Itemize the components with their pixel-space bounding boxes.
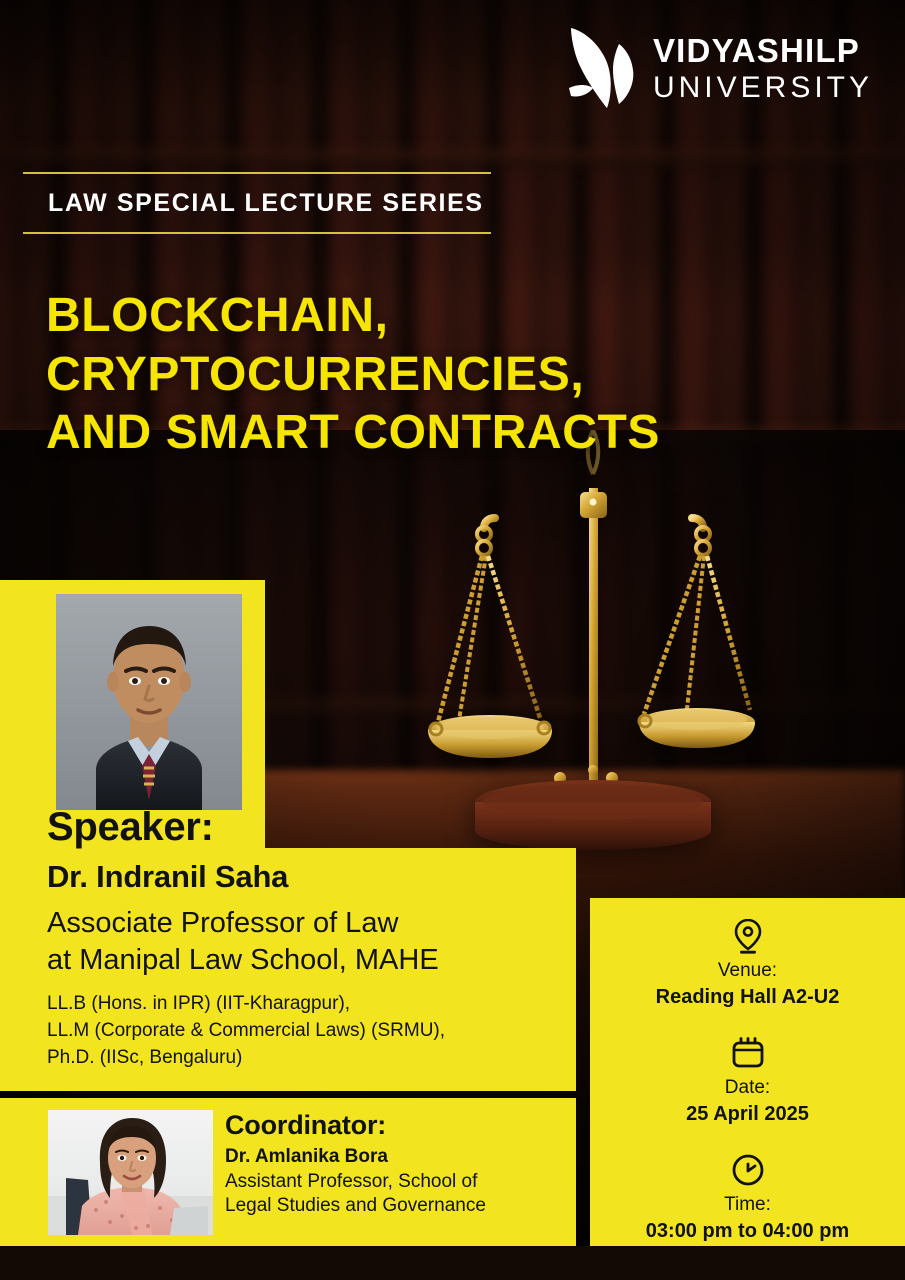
coordinator-role-line2: Legal Studies and Governance [225, 1194, 570, 1218]
time-value: 03:00 pm to 04:00 pm [606, 1219, 889, 1243]
speaker-photo [56, 594, 242, 810]
coordinator-name: Dr. Amlanika Bora [225, 1146, 570, 1168]
clock-icon [606, 1152, 889, 1188]
speaker-role: Associate Professor of Law at Manipal La… [47, 905, 567, 979]
logo-name-line1: VIDYASHILP [653, 34, 873, 67]
kicker-label: LAW SPECIAL LECTURE SERIES [23, 174, 491, 232]
headline-line-1: BLOCKCHAIN, [46, 287, 876, 346]
location-pin-icon [606, 918, 889, 954]
logo-name-line2: UNIVERSITY [653, 73, 873, 103]
date-block: Date: 25 April 2025 [606, 1031, 889, 1132]
coordinator-role: Assistant Professor, School of Legal Stu… [225, 1170, 570, 1218]
kicker-rule-top [23, 172, 491, 174]
scales-of-justice-icon [400, 430, 790, 850]
venue-label: Venue: [606, 960, 889, 982]
headline-line-3: AND SMART CONTRACTS [46, 404, 876, 463]
venue-block: Venue: Reading Hall A2-U2 [606, 914, 889, 1015]
event-info-panel: Venue: Reading Hall A2-U2 Date: 25 April… [590, 898, 905, 1246]
coordinator-photo [48, 1110, 213, 1235]
time-label: Time: [606, 1194, 889, 1216]
calendar-icon [606, 1035, 889, 1071]
page-title: BLOCKCHAIN, CRYPTOCURRENCIES, AND SMART … [46, 287, 876, 463]
speaker-role-line2: at Manipal Law School, MAHE [47, 942, 567, 979]
date-value: 25 April 2025 [606, 1102, 889, 1126]
speaker-name: Dr. Indranil Saha [47, 859, 567, 895]
kicker-rule-bottom [23, 232, 491, 234]
headline-line-2: CRYPTOCURRENCIES, [46, 346, 876, 405]
time-block: Time: 03:00 pm to 04:00 pm [606, 1148, 889, 1249]
coordinator-details: Coordinator: Dr. Amlanika Bora Assistant… [225, 1110, 570, 1218]
speaker-qualifications: LL.B (Hons. in IPR) (IIT-Kharagpur), LL.… [47, 991, 567, 1071]
venue-value: Reading Hall A2-U2 [606, 985, 889, 1009]
bottom-bar [0, 1246, 905, 1280]
event-poster: VIDYASHILP UNIVERSITY LAW SPECIAL LECTUR… [0, 0, 905, 1280]
speaker-label: Speaker: [47, 806, 567, 849]
speaker-qual-line2: LL.M (Corporate & Commercial Laws) (SRMU… [47, 1018, 567, 1045]
university-logo: VIDYASHILP UNIVERSITY [567, 22, 873, 114]
speaker-qual-line3: Ph.D. (IISc, Bengaluru) [47, 1045, 567, 1072]
coordinator-role-line1: Assistant Professor, School of [225, 1170, 570, 1194]
coordinator-label: Coordinator: [225, 1110, 570, 1141]
lecture-series-kicker: LAW SPECIAL LECTURE SERIES [23, 172, 491, 234]
vidyashilp-leaf-mark-icon [567, 22, 637, 114]
speaker-qual-line1: LL.B (Hons. in IPR) (IIT-Kharagpur), [47, 991, 567, 1018]
speaker-role-line1: Associate Professor of Law [47, 905, 567, 942]
speaker-details: Speaker: Dr. Indranil Saha Associate Pro… [47, 806, 567, 1071]
date-label: Date: [606, 1077, 889, 1099]
